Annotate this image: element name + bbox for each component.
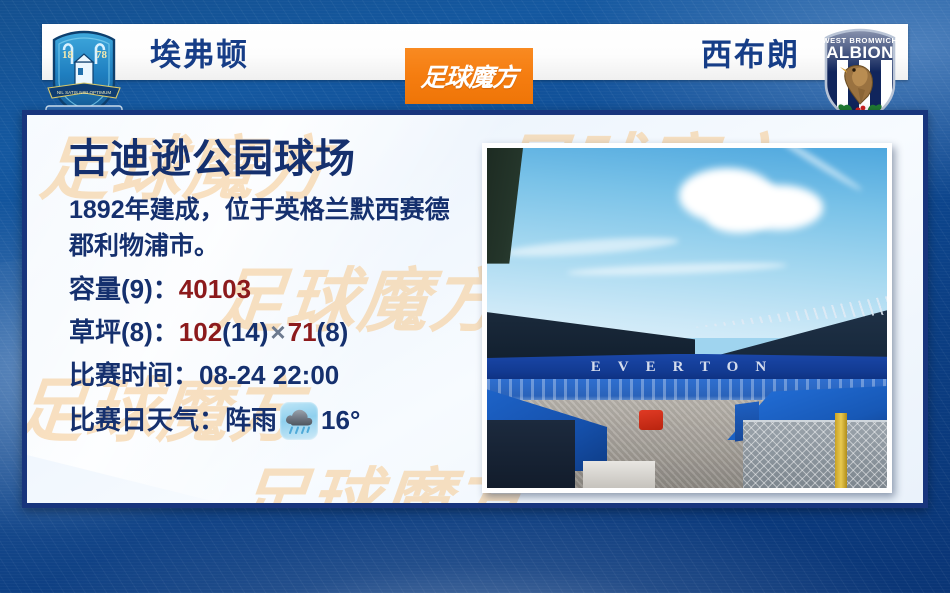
capacity-row: 容量(9)： 40103 [69,273,489,307]
photo-foreground-seating [487,420,575,488]
weather-temperature: 16° [321,404,360,438]
photo-stand-lettering: EVERTON [487,359,887,376]
weather-row: 比赛日天气： 阵雨 [69,402,489,440]
rain-shower-icon [280,402,318,440]
away-team-name: 西布朗 [701,30,800,75]
svg-text:18: 18 [62,49,74,61]
site-logo-text: 足球魔方 [420,58,519,94]
capacity-label: 容量(9)： [69,273,179,307]
goodison-park-stadium-photo: EVERTON [487,148,887,488]
svg-text:78: 78 [96,49,108,61]
pitch-length-rank: (14) [222,316,268,350]
pitch-width-rank: (8) [317,316,349,350]
svg-text:ALBION: ALBION [826,43,894,62]
photo-red-equipment [639,410,663,430]
photo-metal-fence [743,420,887,488]
weather-condition: 阵雨 [225,404,277,438]
match-time-label: 比赛时间： [69,359,199,393]
photo-yellow-post [835,413,847,488]
pitch-width-value: 71 [288,316,317,350]
stadium-description: 1892年建成，位于英格兰默西赛德郡利物浦市。 [69,192,469,265]
multiply-symbol: × [270,316,285,350]
match-time-value: 08-24 22:00 [199,359,339,393]
pitch-label: 草坪(8)： [69,316,179,350]
stadium-photo-frame[interactable]: EVERTON [482,143,892,493]
pitch-length-value: 102 [179,316,222,350]
stadium-info-block: 古迪逊公园球场 1892年建成，位于英格兰默西赛德郡利物浦市。 容量(9)： 4… [69,137,489,440]
svg-text:NIL SATIS NISI OPTIMUM: NIL SATIS NISI OPTIMUM [57,90,112,95]
home-team-name: 埃弗顿 [150,30,249,75]
weather-label: 比赛日天气： [69,404,225,438]
photo-cloud-3 [707,202,771,233]
stadium-info-panel: 足球魔方 足球魔方 足球魔方 足球魔方 足球魔方 古迪逊公园球场 1892年建成… [22,110,928,508]
capacity-value: 40103 [179,273,251,307]
stadium-title: 古迪逊公园球场 [69,137,489,182]
pitch-row: 草坪(8)： 102 (14) × 71 (8) [69,316,489,350]
match-time-row: 比赛时间： 08-24 22:00 [69,359,489,393]
match-header: 18 78 NIL SATIS NISI OPTIMUM Everton 埃弗顿… [0,24,950,80]
site-logo-badge[interactable]: 足球魔方 [405,48,533,104]
photo-concrete-step [583,461,655,488]
